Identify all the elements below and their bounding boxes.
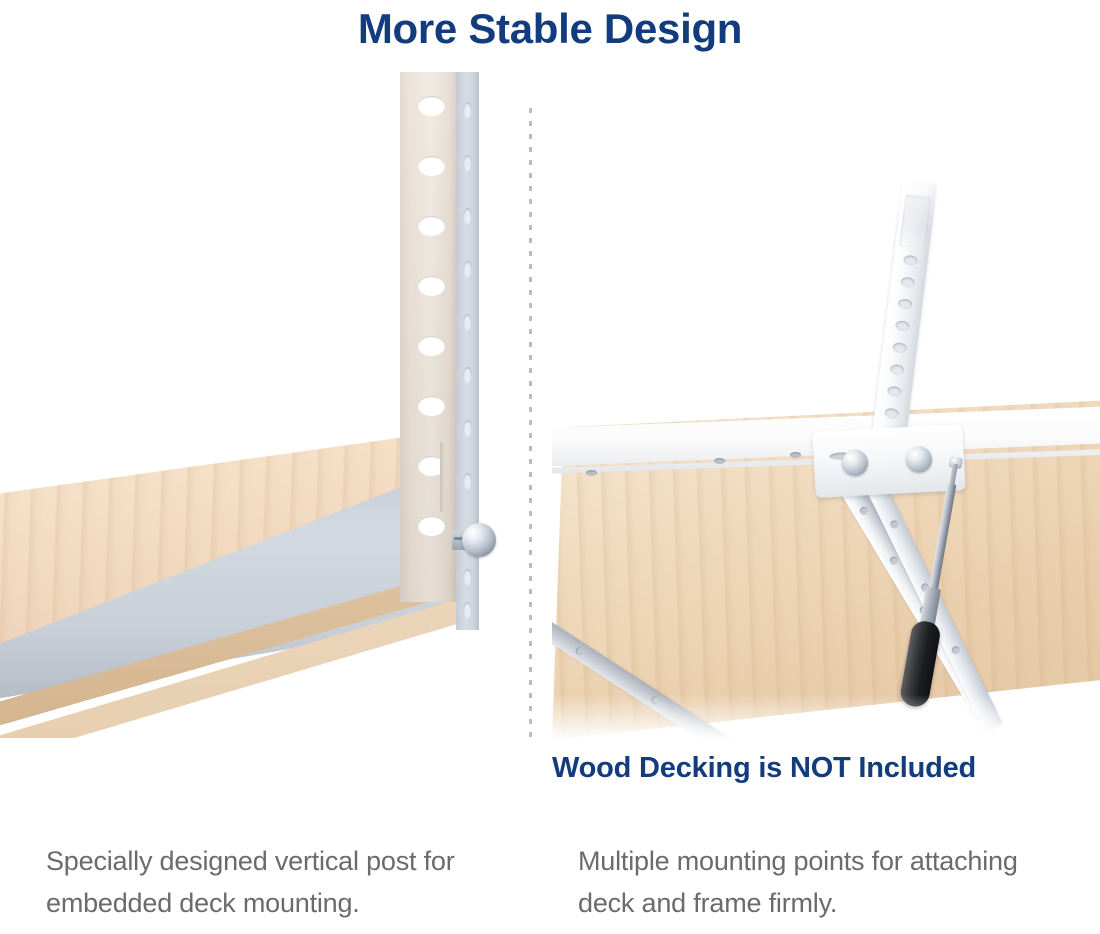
- caption-right: Multiple mounting points for attaching d…: [578, 840, 1078, 924]
- vertical-post-front-face: [400, 72, 456, 602]
- upright-hole: [884, 407, 899, 419]
- post-front-hole: [418, 336, 445, 356]
- post-side-hole: [463, 602, 472, 619]
- brace-hole: [888, 555, 899, 566]
- post-side-hole: [463, 208, 472, 225]
- post-mounting-tab: [440, 442, 445, 512]
- chrome-bolt: [452, 523, 496, 557]
- post-front-hole: [418, 156, 445, 176]
- upright-hole: [887, 386, 902, 398]
- brace-hole: [858, 505, 869, 516]
- post-front-hole: [418, 276, 445, 296]
- post-side-hole: [463, 155, 472, 172]
- upright-hole: [895, 320, 910, 332]
- brace-hole: [950, 645, 961, 656]
- post-front-hole: [418, 216, 445, 236]
- post-side-hole: [463, 102, 472, 119]
- upright-hole: [903, 255, 918, 267]
- upright-hole: [898, 298, 913, 310]
- dotted-vertical-divider: [529, 108, 532, 744]
- product-photo-right: [552, 170, 1100, 740]
- post-side-hole: [463, 569, 472, 586]
- brace-hole: [889, 519, 900, 530]
- page-title: More Stable Design: [0, 2, 1100, 56]
- embossed-marking: [899, 194, 931, 249]
- post-front-hole: [418, 516, 445, 536]
- post-side-hole: [463, 420, 472, 437]
- beam-mounting-hole: [790, 452, 801, 458]
- upright-hole: [892, 342, 907, 354]
- beam-mounting-hole: [714, 458, 725, 464]
- caption-left: Specially designed vertical post for emb…: [46, 840, 526, 924]
- post-side-hole: [463, 367, 472, 384]
- post-side-hole: [463, 314, 472, 331]
- bracket-bolt: [841, 449, 868, 476]
- bracket-bolt: [905, 446, 932, 473]
- infographic-page: More Stable Design: [0, 0, 1100, 934]
- upright-hole: [890, 364, 905, 376]
- beam-mounting-hole: [586, 470, 597, 476]
- upright-hole: [900, 276, 915, 288]
- brace-hole: [574, 646, 585, 657]
- sub-headline: Wood Decking is NOT Included: [552, 748, 1100, 788]
- brace-hole: [650, 695, 661, 706]
- post-side-hole: [463, 261, 472, 278]
- post-front-hole: [418, 96, 445, 116]
- product-photo-left: [0, 60, 520, 760]
- bolt-head: [462, 523, 496, 557]
- post-front-hole: [418, 396, 445, 416]
- post-side-hole: [463, 473, 472, 490]
